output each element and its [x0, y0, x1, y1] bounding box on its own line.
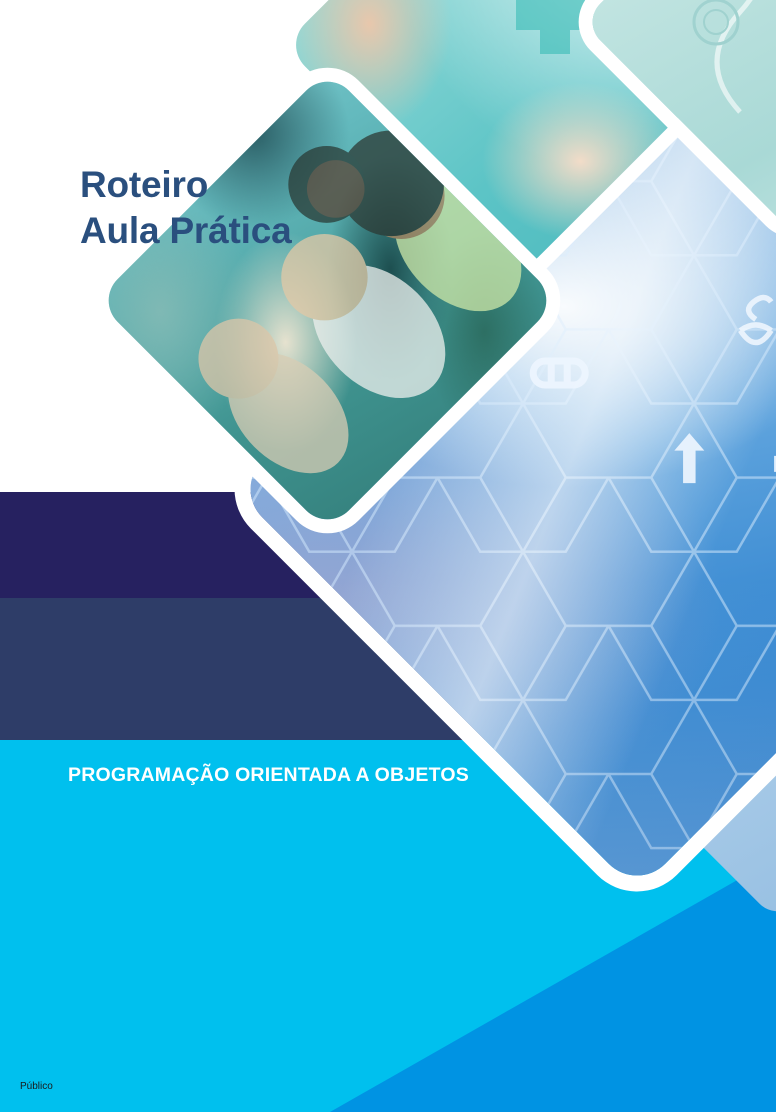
page-title: RoteiroAula Prática	[80, 162, 291, 254]
bandage-icon	[533, 361, 585, 385]
title-line-1: Roteiro	[80, 164, 208, 205]
title-line-2: Aula Prática	[80, 210, 291, 251]
subject-banner-text: PROGRAMAÇÃO ORIENTADA A OBJETOS	[68, 764, 469, 787]
pharmacy-bowl-icon	[740, 297, 771, 342]
classification-footer: Público	[20, 1081, 53, 1092]
up-arrow-icon	[674, 433, 704, 483]
cover-page: RoteiroAula Prática PROGRAMAÇÃO ORIENTAD…	[0, 0, 776, 1112]
